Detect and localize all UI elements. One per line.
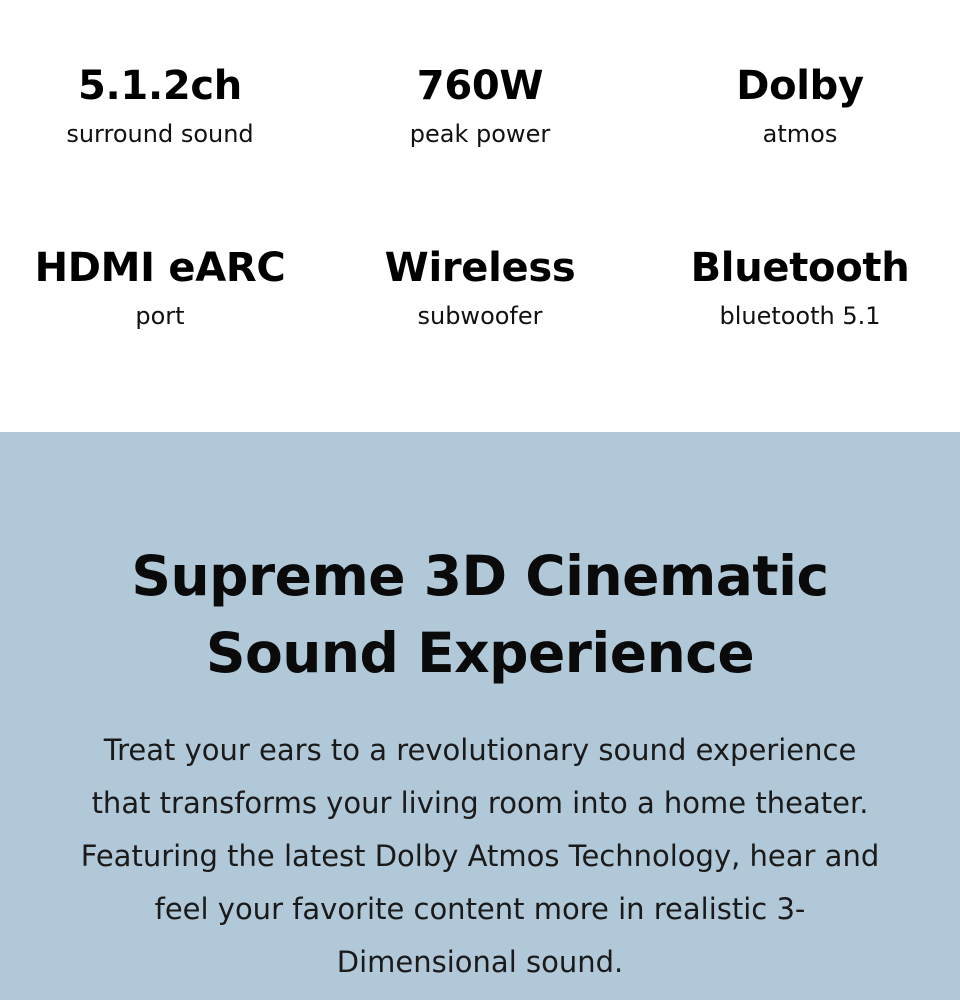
spec-item-bluetooth: Bluetooth bluetooth 5.1 (640, 244, 960, 332)
spec-label: port (0, 300, 320, 332)
spec-value: Dolby (640, 62, 960, 110)
spec-item-wireless-subwoofer: Wireless subwoofer (320, 244, 640, 332)
spec-item-surround-sound: 5.1.2ch surround sound (0, 62, 320, 150)
hero-section: Supreme 3D Cinematic Sound Experience Tr… (0, 432, 960, 1000)
spec-label: atmos (640, 118, 960, 150)
specifications-section: 5.1.2ch surround sound 760W peak power D… (0, 0, 960, 432)
spec-value: 760W (320, 62, 640, 110)
spec-value: Bluetooth (640, 244, 960, 292)
spec-label: surround sound (0, 118, 320, 150)
spec-row-2: HDMI eARC port Wireless subwoofer Blueto… (0, 244, 960, 332)
spec-label: bluetooth 5.1 (640, 300, 960, 332)
spec-item-hdmi-earc: HDMI eARC port (0, 244, 320, 332)
product-feature-page: 5.1.2ch surround sound 760W peak power D… (0, 0, 960, 1000)
spec-item-dolby-atmos: Dolby atmos (640, 62, 960, 150)
spec-item-peak-power: 760W peak power (320, 62, 640, 150)
spec-label: subwoofer (320, 300, 640, 332)
spec-row-1: 5.1.2ch surround sound 760W peak power D… (0, 62, 960, 150)
spec-value: Wireless (320, 244, 640, 292)
hero-description: Treat your ears to a revolutionary sound… (80, 724, 880, 989)
spec-value: HDMI eARC (0, 244, 320, 292)
spec-label: peak power (320, 118, 640, 150)
spec-value: 5.1.2ch (0, 62, 320, 110)
hero-heading: Supreme 3D Cinematic Sound Experience (100, 538, 860, 692)
